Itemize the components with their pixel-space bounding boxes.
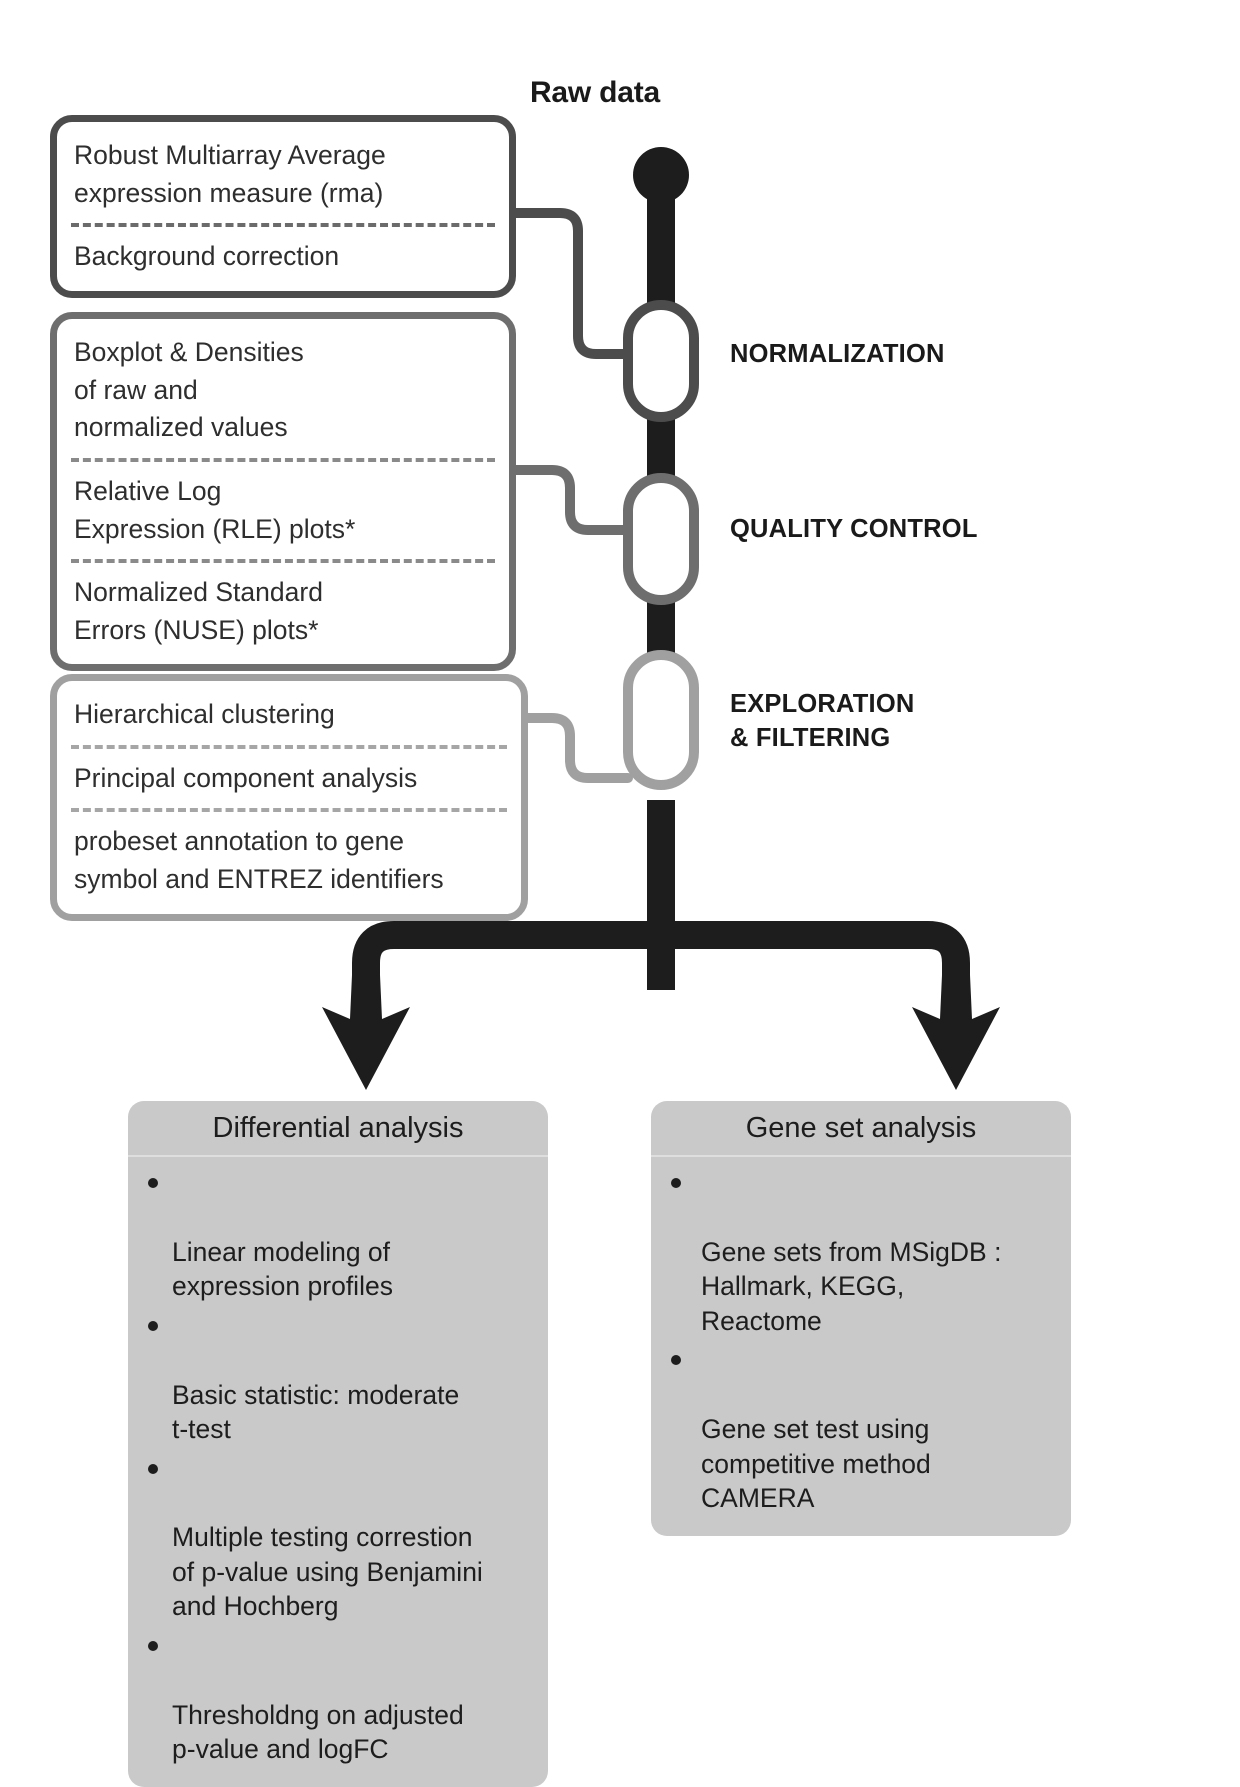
- panel-divider: [71, 745, 507, 749]
- list-item-text: Thresholdng on adjusted p-value and logF…: [172, 1700, 464, 1764]
- stage-label-quality-control: QUALITY CONTROL: [730, 513, 978, 547]
- stage-item: Hierarchical clustering: [57, 687, 521, 743]
- stage-panel-exploration-filtering: Hierarchical clustering Principal compon…: [50, 674, 528, 921]
- spine-segment-mid-1: [647, 400, 675, 520]
- hook-quality-control: [513, 470, 628, 530]
- output-card-differential-analysis: Differential analysis Linear modeling of…: [128, 1101, 548, 1787]
- list-item-text: Gene set test using competitive method C…: [701, 1414, 931, 1513]
- bullet-dot-icon: [671, 1178, 681, 1188]
- spine-segment-top: [647, 170, 675, 310]
- stage-item: Robust Multiarray Average expression mea…: [57, 128, 509, 221]
- bullet-dot-icon: [148, 1178, 158, 1188]
- list-item: Linear modeling of expression profiles: [142, 1166, 534, 1304]
- spine-group: [633, 147, 689, 990]
- stage-item: Background correction: [57, 229, 509, 285]
- stage-panel-normalization: Robust Multiarray Average expression mea…: [50, 115, 516, 298]
- stage-item: probeset annotation to gene symbol and E…: [57, 814, 521, 907]
- spine-segment-bottom: [647, 800, 675, 990]
- list-item-text: Linear modeling of expression profiles: [172, 1237, 393, 1301]
- stage-panel-quality-control: Boxplot & Densities of raw and normalize…: [50, 312, 516, 671]
- output-card-gene-set-analysis: Gene set analysis Gene sets from MSigDB …: [651, 1101, 1071, 1536]
- output-bullet-list: Gene sets from MSigDB : Hallmark, KEGG, …: [651, 1157, 1071, 1536]
- raw-data-node: [633, 147, 689, 203]
- output-card-title: Differential analysis: [128, 1101, 548, 1157]
- panel-divider: [71, 458, 495, 462]
- list-item: Thresholdng on adjusted p-value and logF…: [142, 1629, 534, 1767]
- page-title: Raw data: [450, 76, 740, 110]
- hook-exploration: [520, 718, 628, 778]
- hook-normalization: [513, 213, 628, 354]
- branch-connector: [366, 935, 956, 1000]
- list-item-text: Basic statistic: moderate t-test: [172, 1380, 459, 1444]
- stage-item: Relative Log Expression (RLE) plots*: [57, 464, 509, 557]
- capsule-exploration: [628, 655, 694, 785]
- list-item: Gene set test using competitive method C…: [665, 1343, 1057, 1515]
- panel-divider: [71, 808, 507, 812]
- list-item: Gene sets from MSigDB : Hallmark, KEGG, …: [665, 1166, 1057, 1338]
- bullet-dot-icon: [671, 1355, 681, 1365]
- stage-item: Normalized Standard Errors (NUSE) plots*: [57, 565, 509, 658]
- arrowhead-left: [322, 975, 410, 1090]
- workflow-diagram: Raw data Robust Multiarray Average expre…: [0, 0, 1240, 1753]
- arrowhead-right: [912, 975, 1000, 1090]
- stage-item: Principal component analysis: [57, 751, 521, 807]
- stage-label-normalization: NORMALIZATION: [730, 338, 945, 372]
- output-card-title: Gene set analysis: [651, 1101, 1071, 1157]
- stage-item: Boxplot & Densities of raw and normalize…: [57, 325, 509, 456]
- list-item-text: Multiple testing correstion of p-value u…: [172, 1522, 483, 1621]
- list-item: Multiple testing correstion of p-value u…: [142, 1452, 534, 1624]
- panel-divider: [71, 223, 495, 227]
- stage-label-exploration-filtering: EXPLORATION & FILTERING: [730, 688, 915, 755]
- list-item: Basic statistic: moderate t-test: [142, 1309, 534, 1447]
- output-bullet-list: Linear modeling of expression profiles B…: [128, 1157, 548, 1787]
- capsule-quality-control: [628, 478, 694, 600]
- bullet-dot-icon: [148, 1321, 158, 1331]
- list-item-text: Gene sets from MSigDB : Hallmark, KEGG, …: [701, 1237, 1001, 1336]
- spine-segment-mid-2: [647, 595, 675, 715]
- bullet-dot-icon: [148, 1641, 158, 1651]
- panel-divider: [71, 559, 495, 563]
- capsule-normalization: [628, 305, 694, 417]
- bullet-dot-icon: [148, 1464, 158, 1474]
